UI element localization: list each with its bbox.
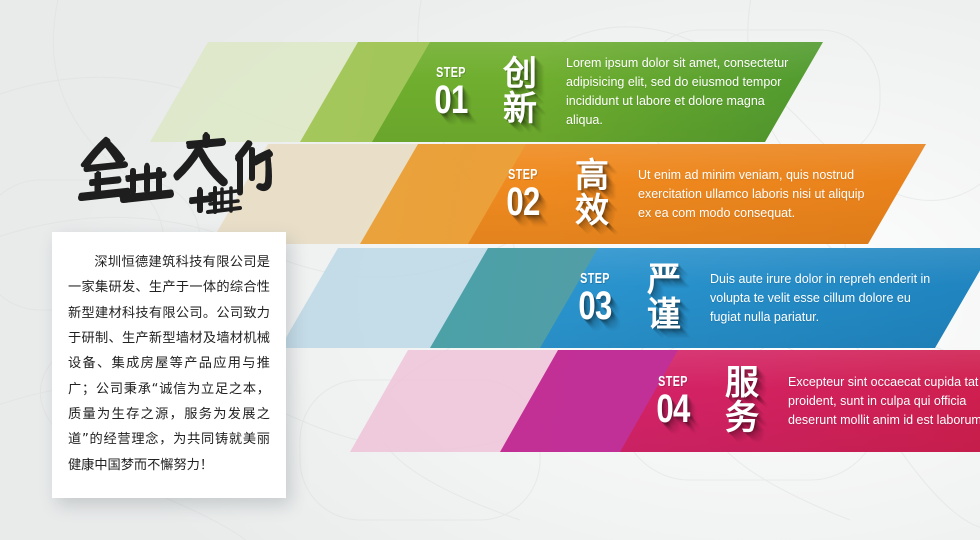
step-content-4: STEP04服务Excepteur sint occaecat cupida t… [640, 350, 980, 452]
page-title [72, 128, 287, 214]
step-keyword-char-1: 严 [644, 263, 684, 298]
step-keyword-3: 严谨 [644, 263, 684, 332]
step-badge-4: STEP04 [640, 374, 706, 428]
step-number: 04 [647, 390, 698, 428]
step-number: 02 [497, 183, 548, 221]
step-description-text: Lorem ipsum dolor sit amet, consectetur … [566, 54, 796, 130]
step-description-text: Ut enim ad minim veniam, quis nostrud ex… [638, 166, 868, 223]
step-keyword-char-1: 高 [572, 159, 612, 194]
step-badge-1: STEP01 [418, 65, 484, 119]
step-description-1: Lorem ipsum dolor sit amet, consectetur … [566, 54, 796, 130]
step-keyword-2: 高效 [572, 159, 612, 228]
step-keyword-char-1: 创 [500, 57, 540, 92]
step-keyword-1: 创新 [500, 57, 540, 126]
step-keyword-char-2: 谨 [644, 298, 684, 333]
step-content-2: STEP02高效Ut enim ad minim veniam, quis no… [490, 144, 980, 244]
step-keyword-char-1: 服 [722, 366, 762, 401]
poster-canvas: STEP01创新Lorem ipsum dolor sit amet, cons… [0, 0, 980, 540]
step-description-text: Excepteur sint occaecat cupida tat non p… [788, 373, 980, 430]
step-badge-3: STEP03 [562, 271, 628, 325]
step-badge-2: STEP02 [490, 167, 556, 221]
step-content-1: STEP01创新Lorem ipsum dolor sit amet, cons… [418, 42, 980, 142]
step-number: 03 [569, 287, 620, 325]
step-description-3: Duis aute irure dolor in repreh enderit … [710, 270, 940, 327]
step-keyword-char-2: 新 [500, 92, 540, 127]
step-description-4: Excepteur sint occaecat cupida tat non p… [788, 373, 980, 430]
step-keyword-char-2: 务 [722, 401, 762, 436]
intro-paragraph: 深圳恒德建筑科技有限公司是一家集研发、生产于一体的综合性新型建材科技有限公司。公… [68, 250, 270, 478]
step-description-2: Ut enim ad minim veniam, quis nostrud ex… [638, 166, 868, 223]
step-keyword-char-2: 效 [572, 194, 612, 229]
step-number: 01 [425, 81, 476, 119]
step-row-1[interactable]: STEP01创新Lorem ipsum dolor sit amet, cons… [0, 42, 980, 142]
intro-card: 深圳恒德建筑科技有限公司是一家集研发、生产于一体的综合性新型建材科技有限公司。公… [52, 232, 286, 498]
step-description-text: Duis aute irure dolor in repreh enderit … [710, 270, 940, 327]
step-keyword-4: 服务 [722, 366, 762, 435]
step-content-3: STEP03严谨Duis aute irure dolor in repreh … [562, 248, 980, 348]
